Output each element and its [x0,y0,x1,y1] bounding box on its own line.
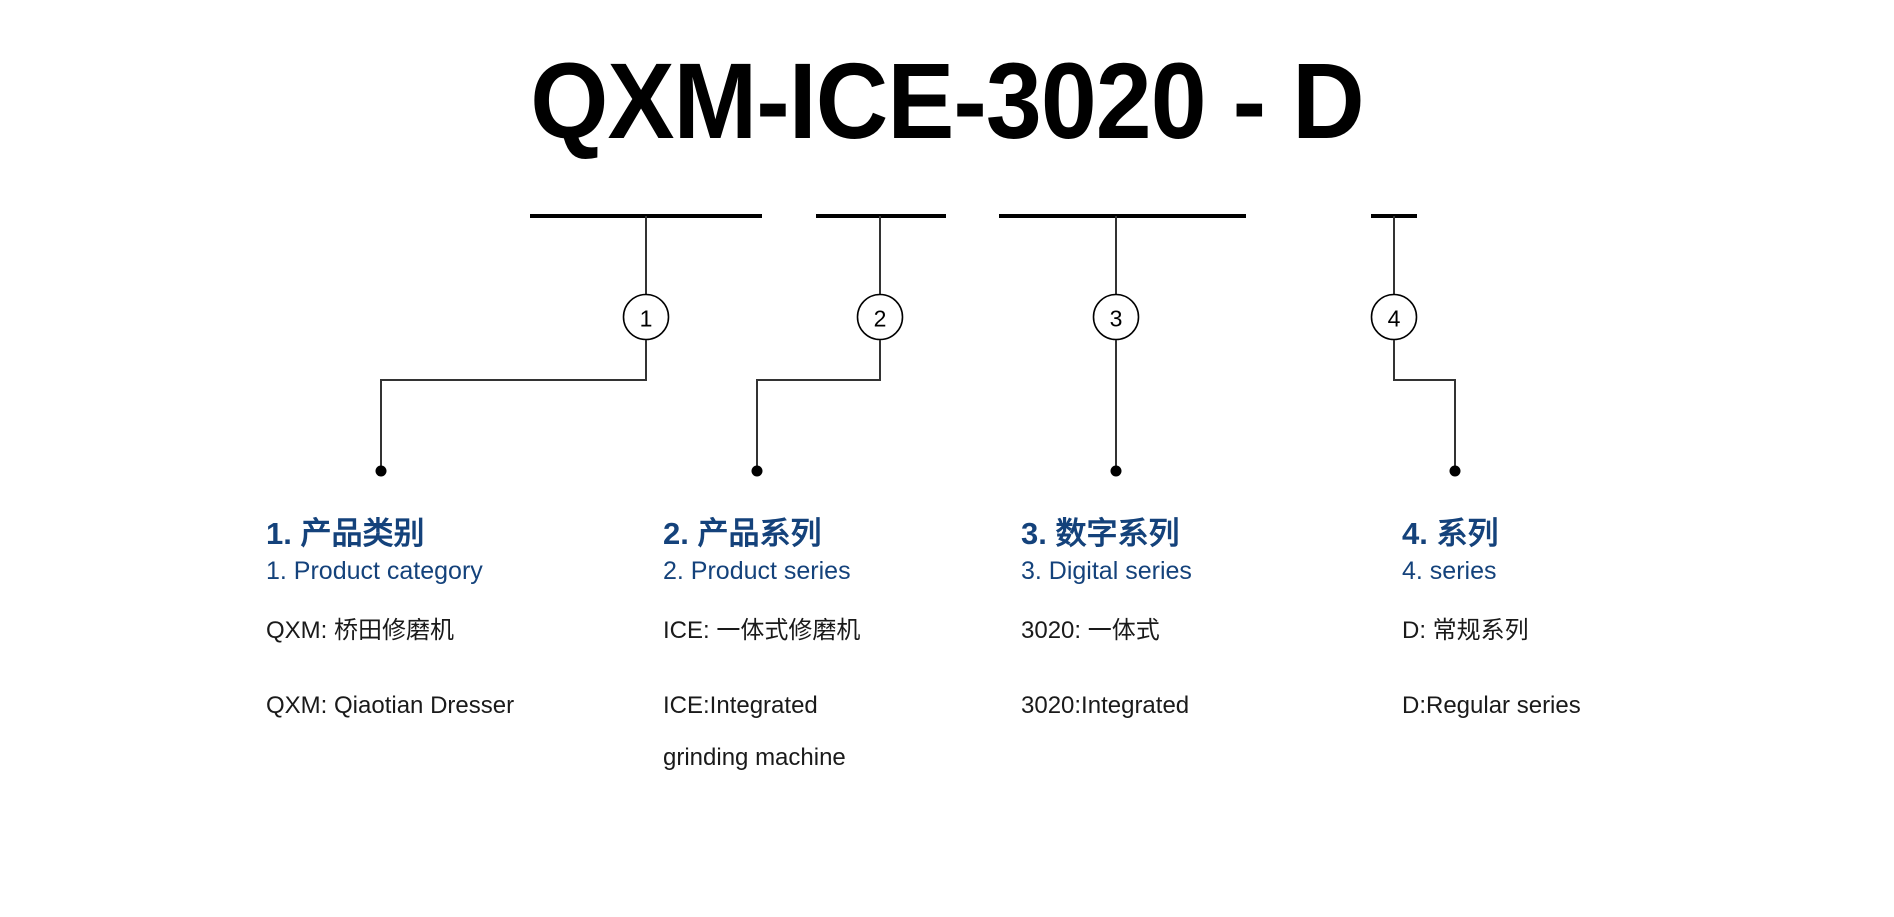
legend-heading-cn-2: 2. 产品系列 [663,515,1023,553]
connector-group-3: 3 [999,216,1246,477]
legend-column-2: 2. 产品系列 2. Product series ICE: 一体式修磨机 IC… [663,515,1023,774]
legend-heading-en-3: 3. Digital series [1021,555,1381,588]
segment-elbow-2 [757,340,880,466]
legend-heading-en-2: 2. Product series [663,555,1023,588]
legend-heading-cn-3: 3. 数字系列 [1021,515,1381,553]
connector-group-1: 1 [376,216,763,477]
legend-columns: 1. 产品类别 1. Product category QXM: 桥田修磨机 Q… [0,515,1894,855]
marker-circle-1-label: 1 [640,306,653,332]
legend-detail-cn-3: 3020: 一体式 [1021,615,1381,647]
legend-heading-en-4: 4. series [1402,555,1762,588]
legend-column-3: 3. 数字系列 3. Digital series 3020: 一体式 3020… [1021,515,1381,722]
legend-detail-cn-4: D: 常规系列 [1402,615,1762,647]
marker-circle-3 [1094,295,1139,340]
page-title: QXM-ICE-3020 - D [66,44,1827,157]
legend-detail-en-2: ICE:Integrated [663,690,1023,722]
segment-end-dot-1 [376,466,387,477]
model-number-breakdown-diagram: QXM-ICE-3020 - D 1 2 3 [0,0,1894,917]
legend-detail-en-4: D:Regular series [1402,690,1762,722]
segment-elbow-4 [1394,340,1455,466]
marker-circle-2-label: 2 [874,306,887,332]
marker-circle-3-label: 3 [1110,306,1123,332]
marker-circle-1 [624,295,669,340]
segment-end-dot-4 [1450,466,1461,477]
legend-detail-en-1: QXM: Qiaotian Dresser [266,690,626,722]
segment-elbow-1 [381,340,646,466]
legend-detail-en-2-line2: grinding machine [663,742,1023,774]
marker-circle-2 [858,295,903,340]
legend-detail-cn-1: QXM: 桥田修磨机 [266,615,626,647]
legend-detail-en-3: 3020:Integrated [1021,690,1381,722]
connector-group-4: 4 [1371,216,1461,477]
legend-heading-cn-1: 1. 产品类别 [266,515,626,553]
segment-end-dot-2 [752,466,763,477]
connector-group-2: 2 [752,216,947,477]
legend-detail-cn-2: ICE: 一体式修磨机 [663,615,1023,647]
legend-column-4: 4. 系列 4. series D: 常规系列 D:Regular series [1402,515,1762,722]
segment-end-dot-3 [1111,466,1122,477]
legend-heading-cn-4: 4. 系列 [1402,515,1762,553]
legend-column-1: 1. 产品类别 1. Product category QXM: 桥田修磨机 Q… [266,515,626,722]
marker-circle-4 [1372,295,1417,340]
legend-heading-en-1: 1. Product category [266,555,626,588]
marker-circle-4-label: 4 [1388,306,1401,332]
